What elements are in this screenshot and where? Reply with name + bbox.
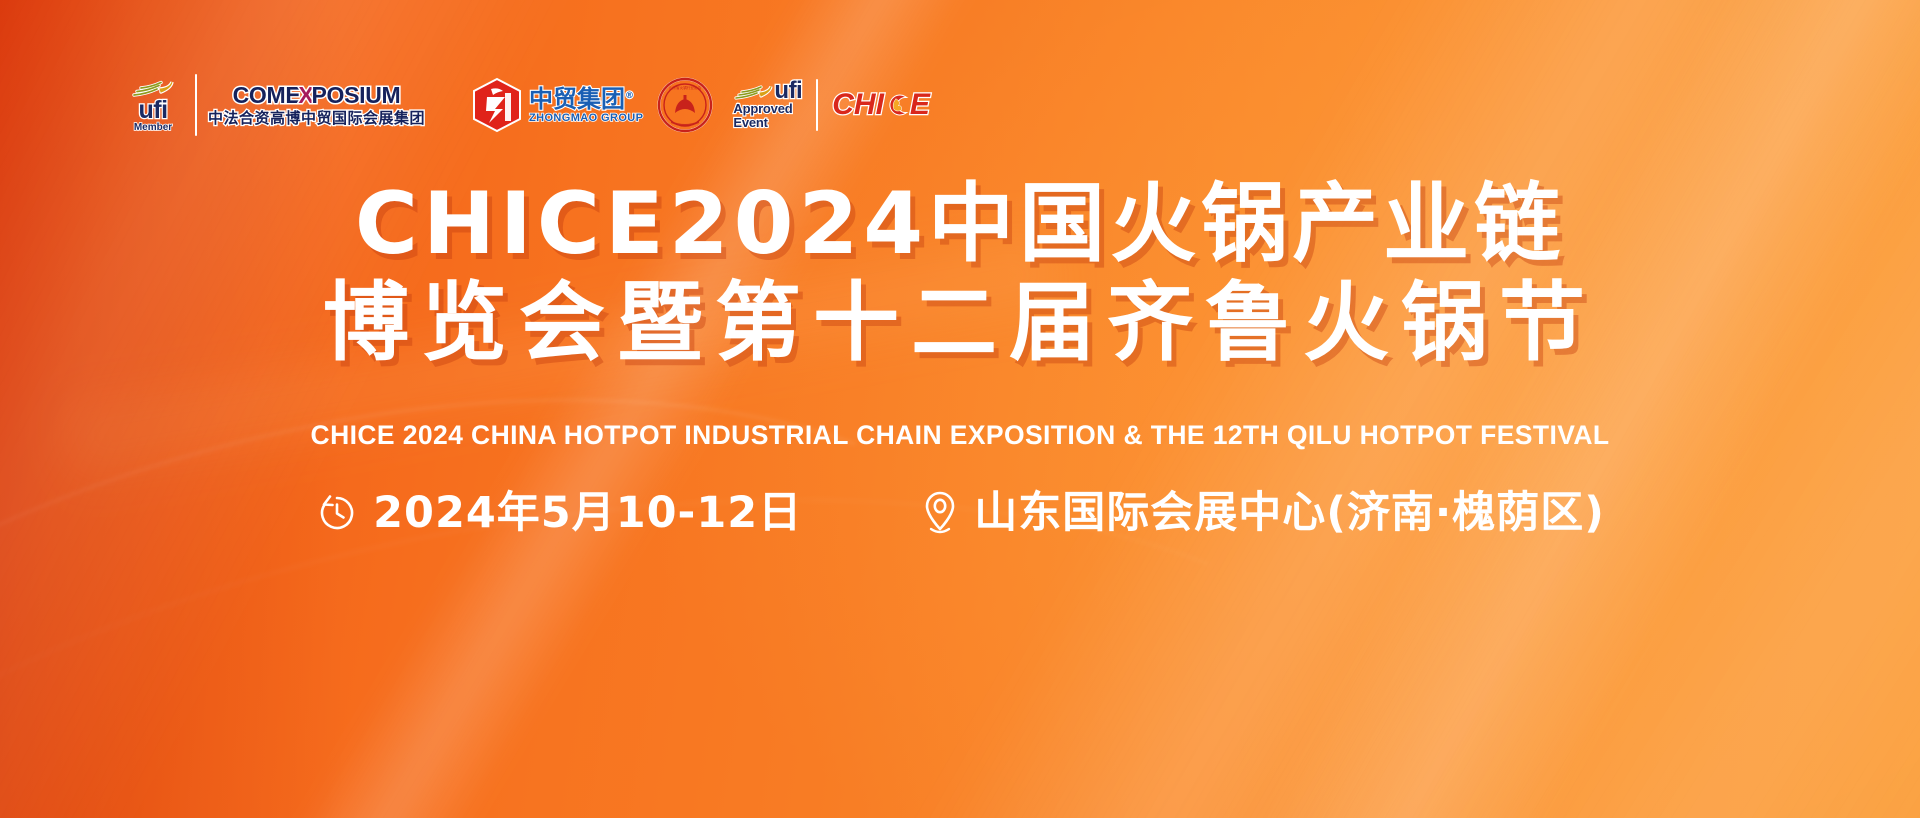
logo-zhongmao-group: 中贸集团® ZHONGMAO GROUP bbox=[471, 64, 643, 146]
chice-wordmark: CHIE bbox=[832, 90, 930, 120]
comexposium-wordmark: COMEXPOSIUM bbox=[233, 84, 401, 107]
title-line-1: CHICE2024中国火锅产业链 bbox=[0, 178, 1920, 271]
zhongmao-chinese-name: 中贸集团® bbox=[529, 87, 643, 111]
ufi-approved-line2: Event bbox=[733, 116, 767, 130]
event-date-text: 2024年5月10-12日 bbox=[373, 492, 802, 535]
logo-divider-3 bbox=[816, 79, 818, 131]
subtitle-english: CHICE 2024 CHINA HOTPOT INDUSTRIAL CHAIN… bbox=[0, 420, 1920, 451]
logo-association-seal: 山东省火锅行业协会 bbox=[643, 64, 727, 146]
event-date: 2024年5月10-12日 bbox=[315, 491, 802, 535]
ufi-approved-line1: Approved bbox=[733, 102, 792, 116]
chice-part1: CHI bbox=[832, 90, 884, 120]
svg-text:山东省火锅行业协会: 山东省火锅行业协会 bbox=[669, 85, 702, 90]
comexposium-part2: POSIUM bbox=[311, 84, 400, 107]
logo-ufi-member: ufi Member bbox=[122, 64, 184, 146]
title-line-2: 博览会暨第十二届齐鲁火锅节 bbox=[0, 277, 1920, 370]
logo-comexposium: COMEXPOSIUM 中法合资高博中贸国际会展集团 bbox=[208, 64, 425, 146]
ufi-approved-wordmark: ufi bbox=[774, 80, 802, 102]
event-location-text: 山东国际会展中心(济南·槐荫区) bbox=[974, 492, 1605, 535]
clock-icon bbox=[315, 491, 359, 535]
ufi-wordmark: ufi bbox=[138, 99, 167, 122]
logo-chice: CHIE bbox=[832, 64, 930, 146]
zhongmao-emblem-icon bbox=[471, 77, 523, 133]
logo-ufi-approved-event: ufi Approved Event bbox=[733, 64, 802, 146]
location-pin-icon bbox=[920, 489, 960, 537]
logo-divider-1 bbox=[195, 74, 197, 136]
event-info-row: 2024年5月10-12日 山东国际会展中心(济南·槐荫区) bbox=[0, 489, 1920, 537]
registered-mark: ® bbox=[625, 91, 634, 101]
ufi-wing-icon bbox=[733, 84, 773, 102]
chice-part2: E bbox=[910, 90, 930, 120]
chice-flame-icon bbox=[885, 90, 909, 120]
sponsor-logo-bar: ufi Member COMEXPOSIUM 中法合资高博中贸国际会展集团 bbox=[122, 64, 930, 146]
comexposium-part1: COME bbox=[233, 84, 301, 107]
event-location: 山东国际会展中心(济南·槐荫区) bbox=[920, 489, 1605, 537]
comexposium-chinese-name: 中法合资高博中贸国际会展集团 bbox=[208, 111, 425, 126]
ufi-member-label: Member bbox=[134, 122, 172, 133]
red-circular-seal-icon: 山东省火锅行业协会 bbox=[657, 77, 713, 133]
banner-stage: ufi Member COMEXPOSIUM 中法合资高博中贸国际会展集团 bbox=[0, 0, 1920, 818]
main-title-block: CHICE2024中国火锅产业链 博览会暨第十二届齐鲁火锅节 bbox=[0, 178, 1920, 370]
zhongmao-english-name: ZHONGMAO GROUP bbox=[529, 113, 643, 124]
